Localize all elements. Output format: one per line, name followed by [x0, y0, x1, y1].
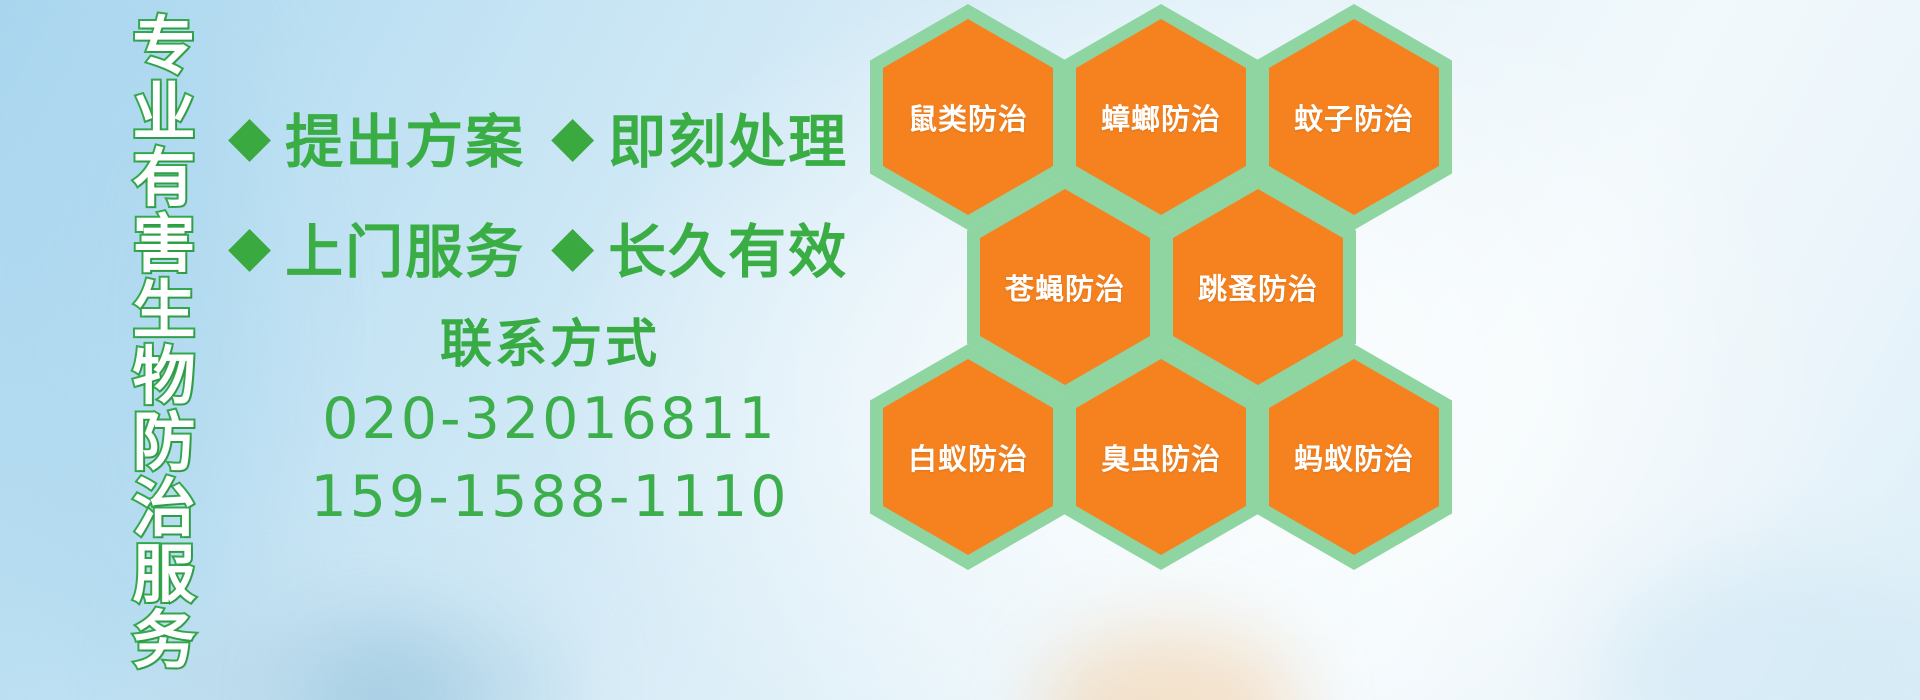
vertical-headline-char: 害	[133, 212, 196, 278]
hexagon-fill: 跳蚤防治	[1173, 189, 1343, 385]
service-label: 苍蝇防治	[1005, 266, 1125, 308]
feature-list: ◆ 提出方案 ◆ 即刻处理 ◆ 上门服务 ◆ 长久有效	[228, 82, 868, 302]
service-label: 鼠类防治	[908, 96, 1028, 138]
feature-label: 上门服务	[285, 205, 525, 289]
hexagon-fill: 蟑螂防治	[1076, 19, 1246, 215]
vertical-headline-char: 生	[133, 278, 196, 344]
diamond-bullet-icon: ◆	[551, 219, 594, 275]
hexagon-fill: 蚊子防治	[1269, 19, 1439, 215]
vertical-headline-char: 业	[133, 80, 196, 146]
feature-item-onsite-service: ◆ 上门服务	[228, 205, 525, 289]
vertical-headline-char: 物	[133, 344, 196, 410]
vertical-headline-char: 治	[133, 476, 196, 542]
diamond-bullet-icon: ◆	[228, 109, 271, 165]
phone-number-landline[interactable]: 020-32016811	[300, 380, 800, 458]
contact-block: 联系方式 020-32016811 159-1588-1110	[300, 310, 800, 536]
feature-item-propose-plan: ◆ 提出方案	[228, 95, 525, 179]
feature-item-immediate-treatment: ◆ 即刻处理	[551, 95, 848, 179]
hexagon-fill: 蚂蚁防治	[1269, 359, 1439, 555]
diamond-bullet-icon: ◆	[551, 109, 594, 165]
contact-title: 联系方式	[300, 310, 800, 380]
phone-number-mobile[interactable]: 159-1588-1110	[300, 458, 800, 536]
decorative-blur-bottom-orange	[1040, 630, 1300, 700]
hexagon-fill: 苍蝇防治	[980, 189, 1150, 385]
vertical-headline-char: 有	[133, 146, 196, 212]
vertical-headline: 专 业 有 害 生 物 防 治 服 务	[108, 14, 220, 686]
feature-label: 提出方案	[285, 95, 525, 179]
vertical-headline-char: 服	[133, 542, 196, 608]
service-label: 蚂蚁防治	[1294, 436, 1414, 478]
diamond-bullet-icon: ◆	[228, 219, 271, 275]
service-label: 跳蚤防治	[1198, 266, 1318, 308]
vertical-headline-char: 防	[133, 410, 196, 476]
vertical-headline-char: 专	[133, 14, 196, 80]
feature-label: 长久有效	[608, 205, 848, 289]
feature-row: ◆ 上门服务 ◆ 长久有效	[228, 192, 868, 302]
service-label: 白蚁防治	[908, 436, 1028, 478]
feature-item-long-lasting: ◆ 长久有效	[551, 205, 848, 289]
hexagon-fill: 臭虫防治	[1076, 359, 1246, 555]
vertical-headline-char: 务	[133, 608, 196, 674]
feature-label: 即刻处理	[608, 95, 848, 179]
feature-row: ◆ 提出方案 ◆ 即刻处理	[228, 82, 868, 192]
hexagon-fill: 白蚁防治	[883, 359, 1053, 555]
pest-control-banner: 专 业 有 害 生 物 防 治 服 务 ◆ 提出方案 ◆ 即刻处理 ◆ 上门服务	[0, 0, 1920, 700]
decorative-blur-bottom-right	[1600, 560, 1920, 700]
service-label: 臭虫防治	[1101, 436, 1221, 478]
service-hexagon-grid: 鼠类防治 蟑螂防治 蚊子防治 苍蝇防治 跳蚤防治 白蚁防治	[862, 0, 1462, 554]
service-label: 蚊子防治	[1294, 96, 1414, 138]
service-label: 蟑螂防治	[1101, 96, 1221, 138]
decorative-blur-bottom-left-small	[300, 640, 470, 700]
hexagon-fill: 鼠类防治	[883, 19, 1053, 215]
